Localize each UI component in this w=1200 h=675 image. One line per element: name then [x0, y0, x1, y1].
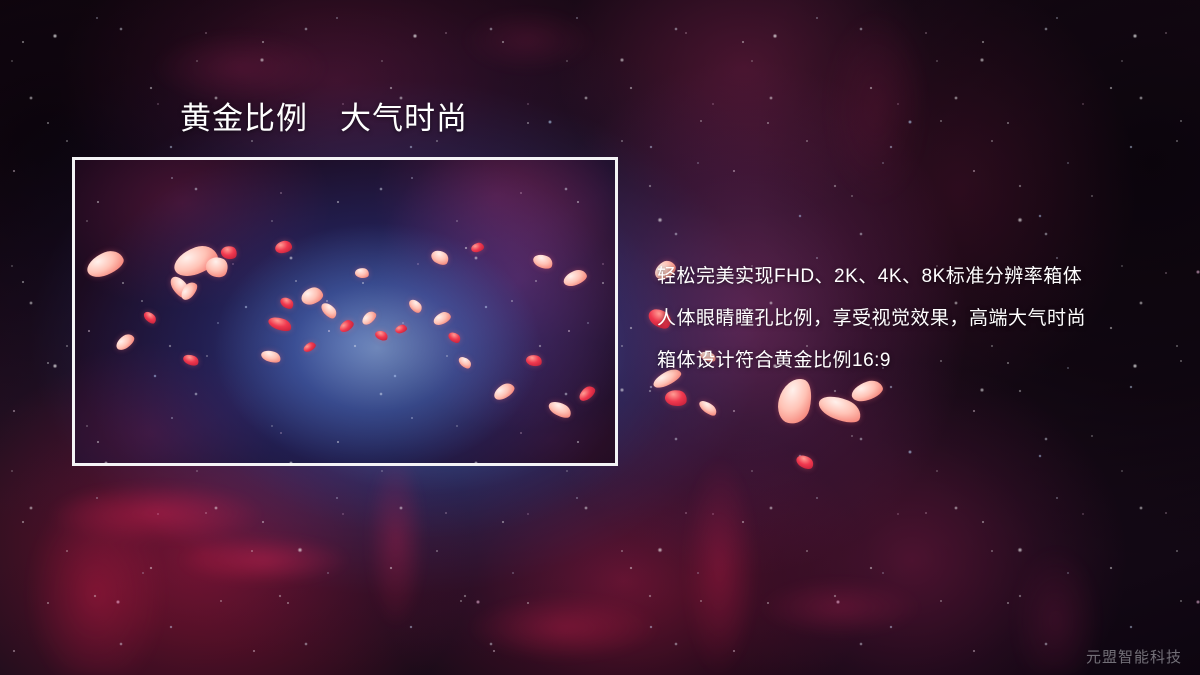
- body-copy-block: 轻松完美实现FHD、2K、4K、8K标准分辨率箱体 人体眼睛瞳孔比例，享受视觉效…: [657, 256, 1157, 382]
- watermark: 元盟智能科技: [1086, 646, 1182, 667]
- body-copy-line-3: 箱体设计符合黄金比例16:9: [657, 340, 1157, 382]
- body-copy-line-1: 轻松完美实现FHD、2K、4K、8K标准分辨率箱体: [657, 256, 1157, 298]
- framed-product-image: [72, 157, 618, 466]
- page-title: 黄金比例 大气时尚: [180, 100, 468, 139]
- framed-image-nebula: [75, 160, 615, 463]
- body-copy-line-2: 人体眼睛瞳孔比例，享受视觉效果，高端大气时尚: [657, 298, 1157, 340]
- slide-canvas: 黄金比例 大气时尚 轻松完美实现FHD、2K、4K、8K标准分辨率箱体 人体眼睛…: [0, 0, 1200, 675]
